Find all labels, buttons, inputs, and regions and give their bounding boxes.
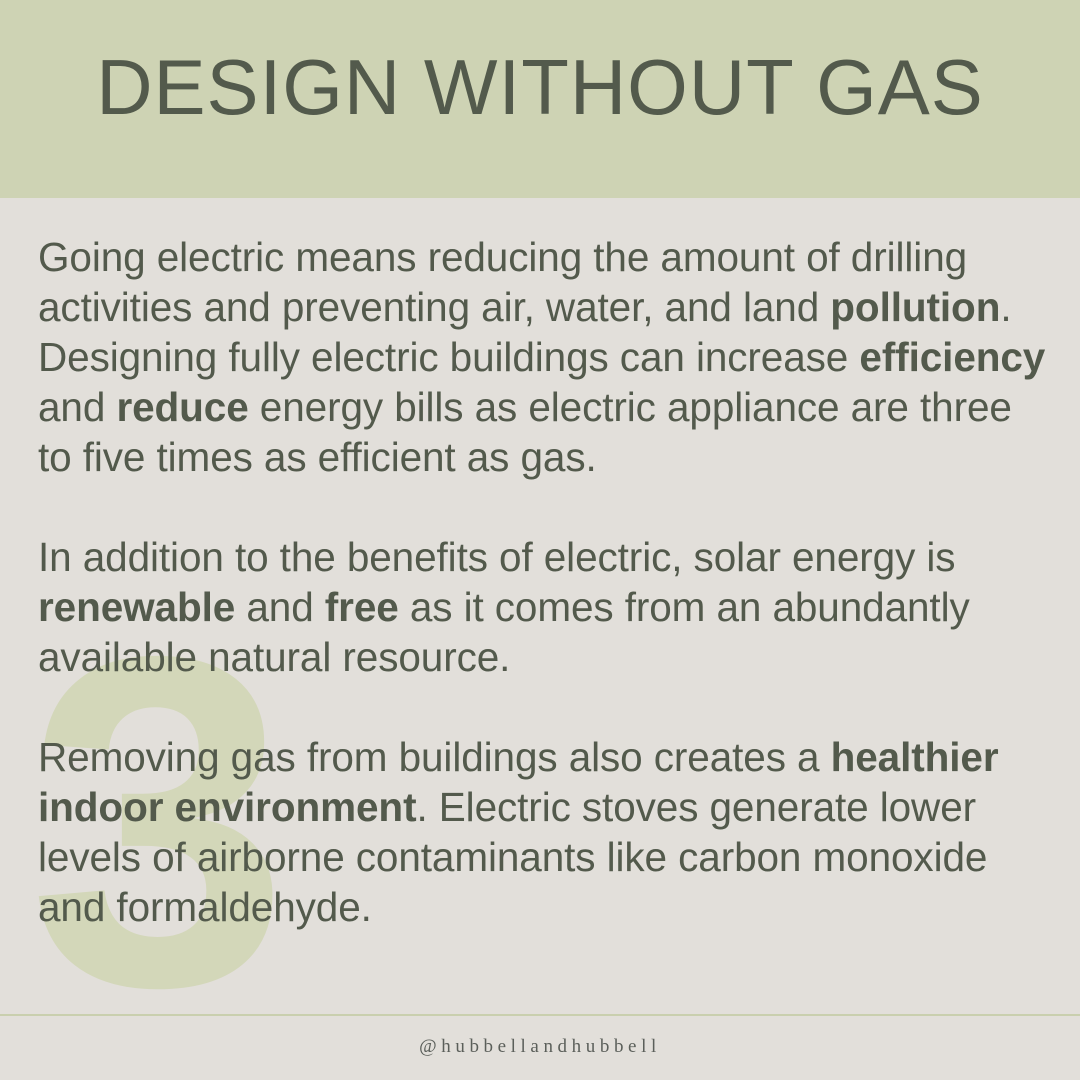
body-copy: Going electric means reducing the amount… bbox=[38, 232, 1053, 932]
social-post-card: DESIGN WITHOUT GAS 3 Going electric mean… bbox=[0, 0, 1080, 1080]
paragraph-3: Removing gas from buildings also creates… bbox=[38, 732, 1053, 932]
paragraph-2: In addition to the benefits of electric,… bbox=[38, 532, 1053, 682]
emphasis-text: efficiency bbox=[859, 334, 1045, 380]
paragraph-1: Going electric means reducing the amount… bbox=[38, 232, 1053, 482]
footer-social-handle: @hubbellandhubbell bbox=[0, 1036, 1080, 1058]
footer-divider bbox=[0, 1014, 1080, 1016]
emphasis-text: free bbox=[325, 584, 399, 630]
body-text: and bbox=[235, 584, 325, 630]
emphasis-text: pollution bbox=[830, 284, 1000, 330]
body-text: In addition to the benefits of electric,… bbox=[38, 534, 955, 580]
header-band: DESIGN WITHOUT GAS bbox=[0, 0, 1080, 198]
emphasis-text: reduce bbox=[116, 384, 248, 430]
emphasis-text: renewable bbox=[38, 584, 235, 630]
page-title: DESIGN WITHOUT GAS bbox=[0, 48, 1080, 126]
body-text: Going electric means reducing the amount… bbox=[38, 234, 967, 330]
body-text: and bbox=[38, 384, 116, 430]
body-text: Removing gas from buildings also creates… bbox=[38, 734, 831, 780]
